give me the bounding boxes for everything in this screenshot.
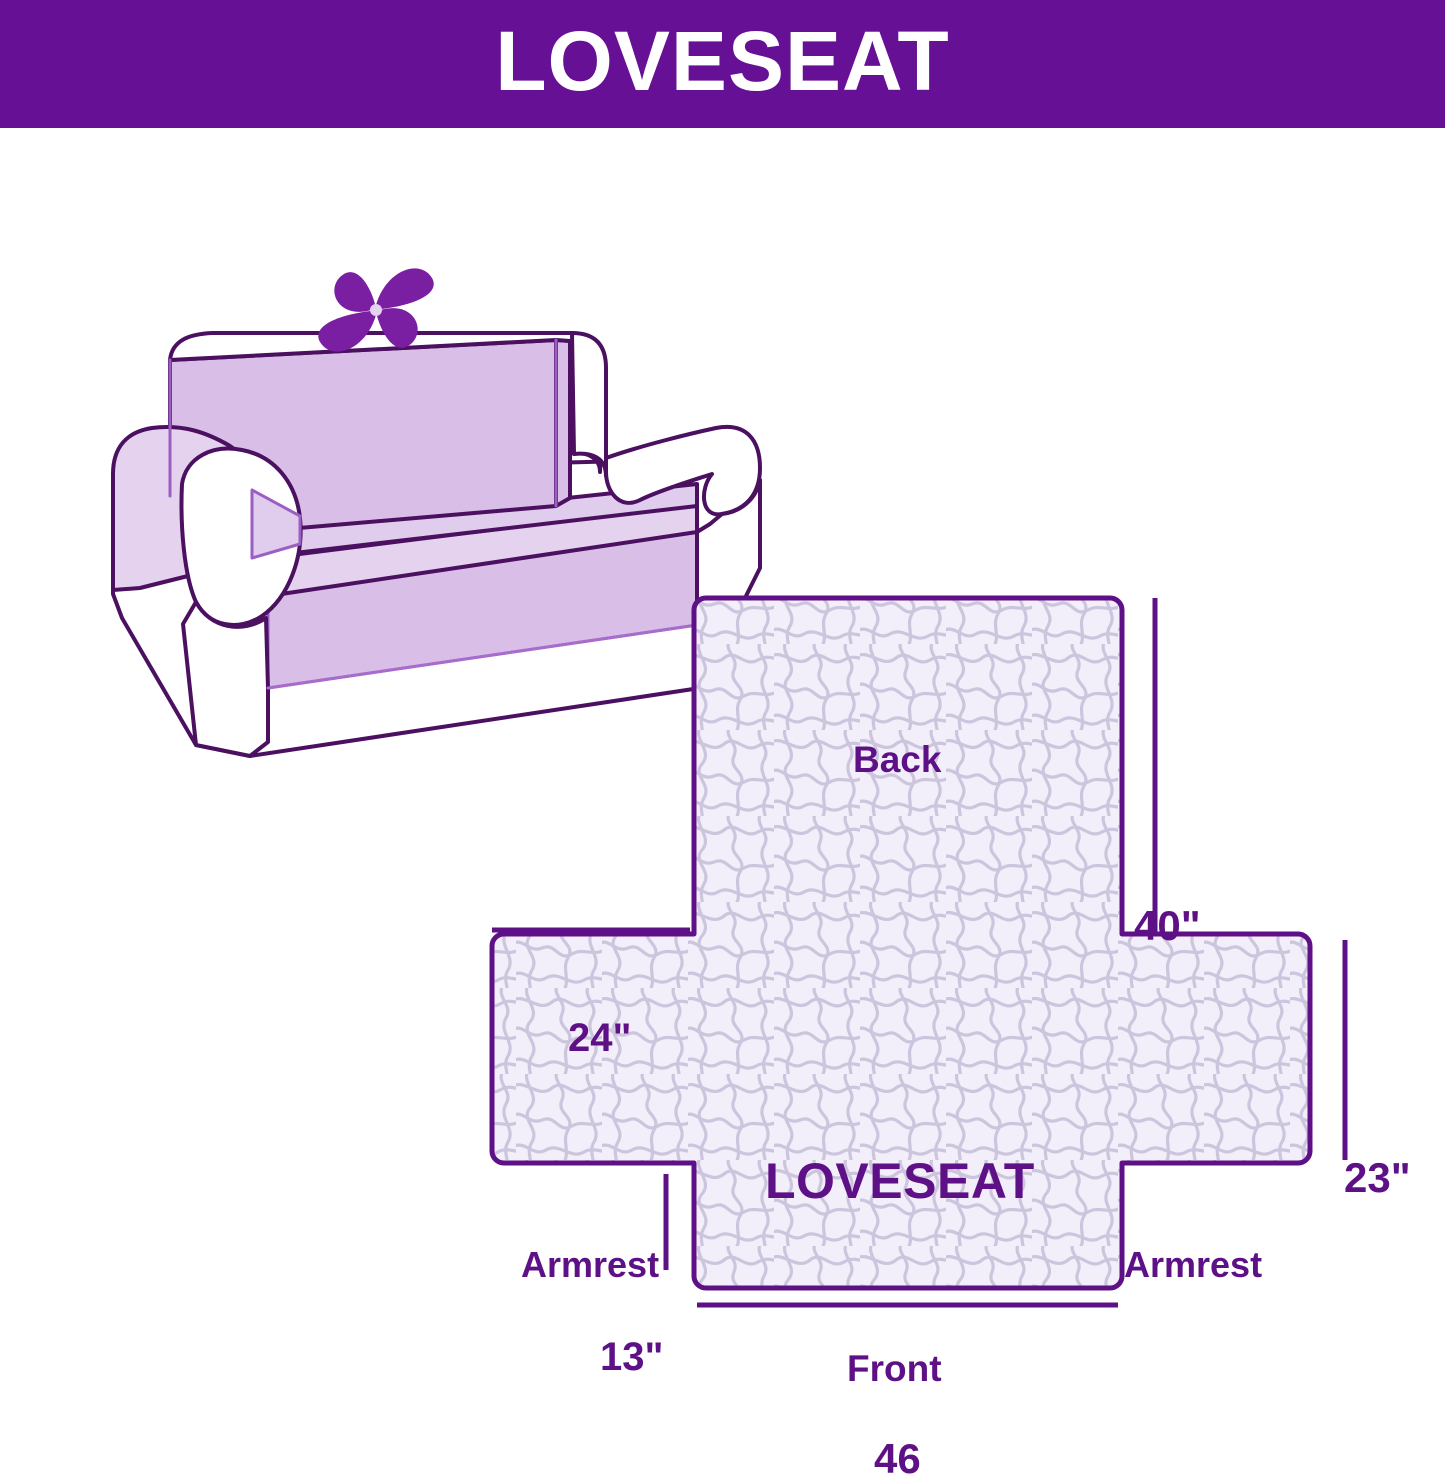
header-bar: LOVESEAT xyxy=(0,0,1445,128)
dimension-label-back-height: 40" xyxy=(1134,905,1201,947)
panel-label-armrest-left: Armrest xyxy=(521,1247,659,1283)
dimension-label-total-width: 46 xyxy=(874,1438,921,1480)
dimension-label-armrest-width: 24" xyxy=(568,1018,631,1058)
panel-label-armrest-right: Armrest xyxy=(1124,1247,1262,1283)
sofa-arm-front-left xyxy=(183,602,268,756)
sofa-back-roll-right xyxy=(572,333,606,476)
sofa-backrest-right xyxy=(556,340,570,506)
panel-label-center: LOVESEAT xyxy=(765,1156,1035,1206)
dimension-label-center-height: 23" xyxy=(1344,1157,1411,1199)
sofa-body xyxy=(113,333,760,756)
panel-label-front: Front xyxy=(847,1350,942,1387)
illustration-stage: Back LOVESEAT Armrest Armrest Front 40" … xyxy=(0,128,1445,1445)
page-title: LOVESEAT xyxy=(495,19,950,103)
panel-label-back: Back xyxy=(853,741,941,778)
dimension-label-front-height: 13" xyxy=(600,1337,663,1377)
